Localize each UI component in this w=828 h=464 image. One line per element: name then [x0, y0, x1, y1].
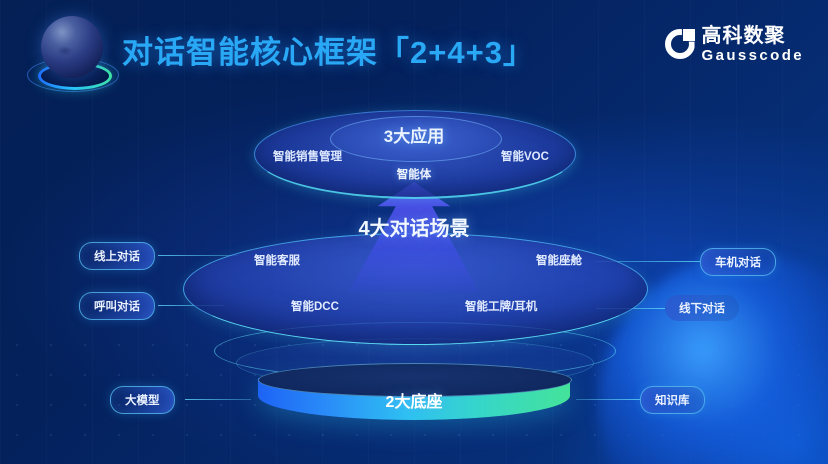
pill-label-online-dialog[interactable]: 线上对话 — [79, 242, 155, 270]
scenario-item-2: 智能座舱 — [536, 252, 582, 268]
pill-label-incar-dialog[interactable]: 车机对话 — [700, 248, 776, 276]
scenario-item-4: 智能工牌/耳机 — [465, 298, 537, 314]
applications-title: 3大应用 — [0, 122, 828, 147]
application-item-1: 智能销售管理 — [273, 148, 342, 164]
framework-diagram: 2大底座 4大对话场景 智能客服 智能座舱 智能DCC 智能工牌/耳机 3大应用… — [0, 0, 828, 464]
scenario-item-1: 智能客服 — [254, 252, 300, 268]
scenarios-title: 4大对话场景 — [0, 212, 828, 241]
pill-label-knowledge-base[interactable]: 知识库 — [640, 386, 705, 414]
pill-label-offline-dialog[interactable]: 线下对话 — [665, 295, 739, 321]
application-item-2: 智能VOC — [501, 148, 549, 164]
slide-canvas: 对话智能核心框架「2+4+3」 高科数聚 Gausscode 2大底座 — [0, 0, 828, 464]
agent-label: 智能体 — [0, 166, 828, 182]
scenario-item-3: 智能DCC — [291, 298, 339, 314]
pill-label-large-model[interactable]: 大模型 — [110, 386, 175, 414]
pill-label-call-dialog[interactable]: 呼叫对话 — [79, 292, 155, 320]
